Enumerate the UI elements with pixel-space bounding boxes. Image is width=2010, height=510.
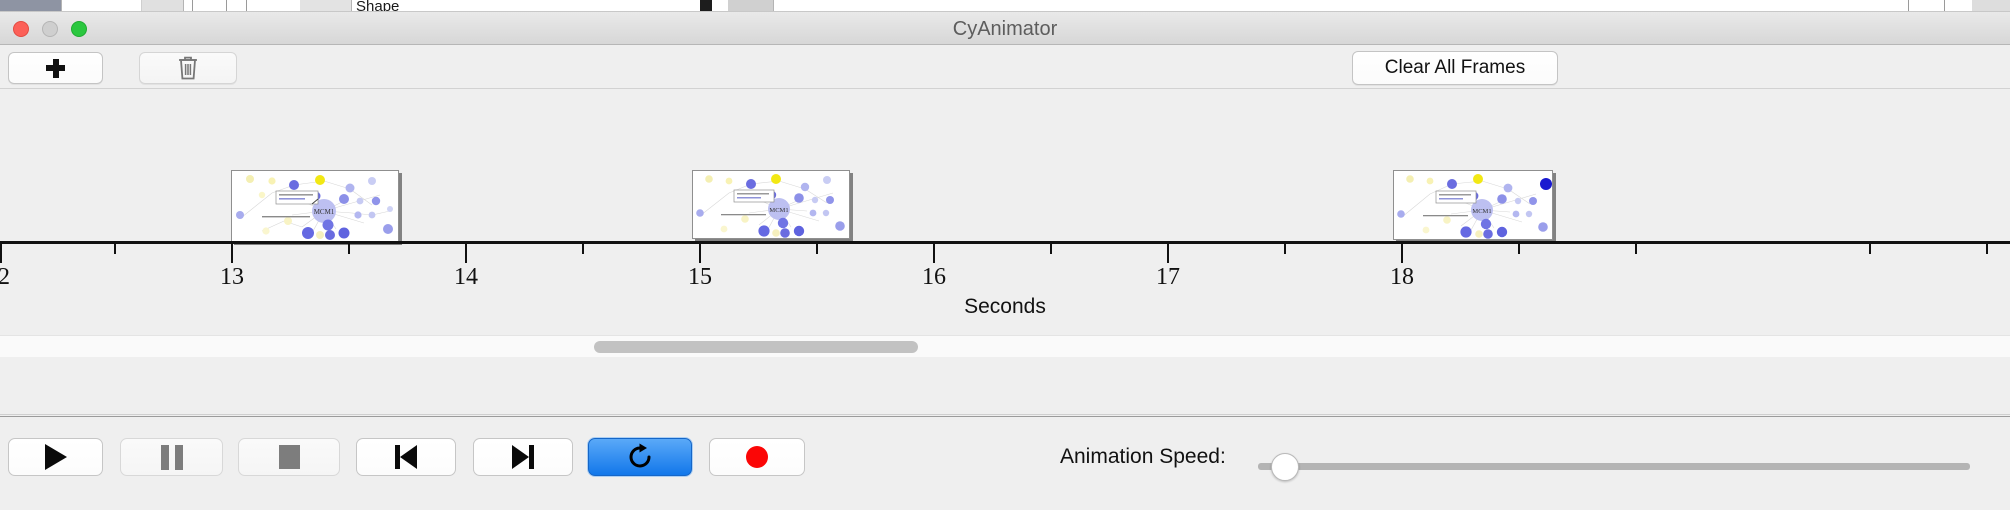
timeline-scrollbar-track[interactable] [0, 335, 2010, 357]
axis-tick-label: 16 [922, 264, 946, 291]
pause-icon [161, 445, 183, 470]
record-icon [746, 446, 768, 468]
bg-block [700, 0, 712, 12]
skip-forward-icon [512, 445, 534, 469]
axis-tick-minor [1284, 244, 1286, 254]
frame-toolbar: Clear All Frames [0, 45, 2010, 89]
add-frame-button[interactable] [8, 52, 103, 84]
network-graph-preview: MCM1 [232, 171, 399, 242]
axis-tick-minor [1635, 244, 1637, 254]
transport-bar: Animation Speed: [0, 416, 2010, 510]
bg-block [1972, 0, 2010, 12]
skip-to-end-button[interactable] [473, 438, 573, 476]
skip-to-start-button[interactable] [356, 438, 456, 476]
plus-icon [46, 59, 65, 78]
loop-button[interactable] [588, 438, 692, 476]
node-label: MCM1 [769, 207, 788, 214]
stop-icon [279, 445, 300, 469]
axis-tick-minor [348, 244, 350, 254]
delete-frame-button[interactable] [139, 52, 237, 84]
axis-tick-minor [816, 244, 818, 254]
timeline-scrollbar-thumb[interactable] [594, 341, 918, 353]
bg-block [0, 0, 62, 12]
axis-tick-major [1401, 244, 1403, 263]
title-bar: CyAnimator [0, 12, 2010, 45]
bg-tick [226, 0, 227, 12]
axis-tick-major [1167, 244, 1169, 263]
pause-button[interactable] [120, 438, 223, 476]
axis-tick-minor [114, 244, 116, 254]
axis-tick-label: 15 [688, 264, 712, 291]
axis-tick-major [231, 244, 233, 263]
bg-block [300, 0, 352, 12]
axis-tick-minor [1050, 244, 1052, 254]
bg-tick [192, 0, 193, 12]
axis-tick-major [933, 244, 935, 263]
axis-tick-minor [1986, 244, 1988, 254]
clear-all-frames-button[interactable]: Clear All Frames [1352, 51, 1558, 85]
bg-tick [1944, 0, 1945, 12]
axis-tick-label: 14 [454, 264, 478, 291]
axis-tick-minor [1869, 244, 1871, 254]
axis-tick-label: 18 [1390, 264, 1414, 291]
network-graph-preview: MCM1 [693, 171, 850, 239]
node-label: MCM1 [314, 208, 335, 216]
axis-title: Seconds [0, 295, 2010, 319]
timeline-panel[interactable]: MCM1 [0, 89, 2010, 415]
keyframe-thumbnail[interactable]: MCM1 [231, 170, 399, 242]
loop-icon [626, 443, 654, 471]
axis-tick-major [465, 244, 467, 263]
record-button[interactable] [709, 438, 805, 476]
node-label: MCM1 [1472, 208, 1491, 215]
play-button[interactable] [8, 438, 103, 476]
axis-tick-major [0, 244, 2, 263]
bg-tick [1908, 0, 1909, 12]
axis-tick-label: 2 [0, 264, 10, 291]
animation-speed-slider-thumb[interactable] [1271, 453, 1299, 481]
cyanimator-window: Shape CyAnimator Clear All Frames [0, 0, 2010, 510]
play-icon [45, 444, 67, 470]
bg-block [142, 0, 184, 12]
bg-label: Shape [356, 0, 399, 12]
keyframe-thumbnail[interactable]: MCM1 [692, 170, 850, 239]
clear-all-frames-label: Clear All Frames [1385, 57, 1525, 79]
bg-block [62, 0, 142, 12]
axis-tick-minor [1518, 244, 1520, 254]
trash-icon [177, 55, 199, 81]
axis-tick-label: 13 [220, 264, 244, 291]
background-app-strip: Shape [0, 0, 2010, 12]
timeline-axis [0, 241, 2010, 244]
network-graph-preview: MCM1 [1394, 171, 1553, 240]
bg-block [728, 0, 774, 12]
animation-speed-slider[interactable] [1258, 463, 1970, 470]
axis-tick-major [699, 244, 701, 263]
axis-tick-label: 17 [1156, 264, 1180, 291]
skip-back-icon [395, 445, 417, 469]
animation-speed-label: Animation Speed: [1060, 445, 1226, 469]
bg-tick [246, 0, 247, 12]
stop-button[interactable] [238, 438, 340, 476]
axis-tick-minor [582, 244, 584, 254]
window-title: CyAnimator [0, 18, 2010, 41]
keyframe-thumbnail[interactable]: MCM1 [1393, 170, 1553, 240]
